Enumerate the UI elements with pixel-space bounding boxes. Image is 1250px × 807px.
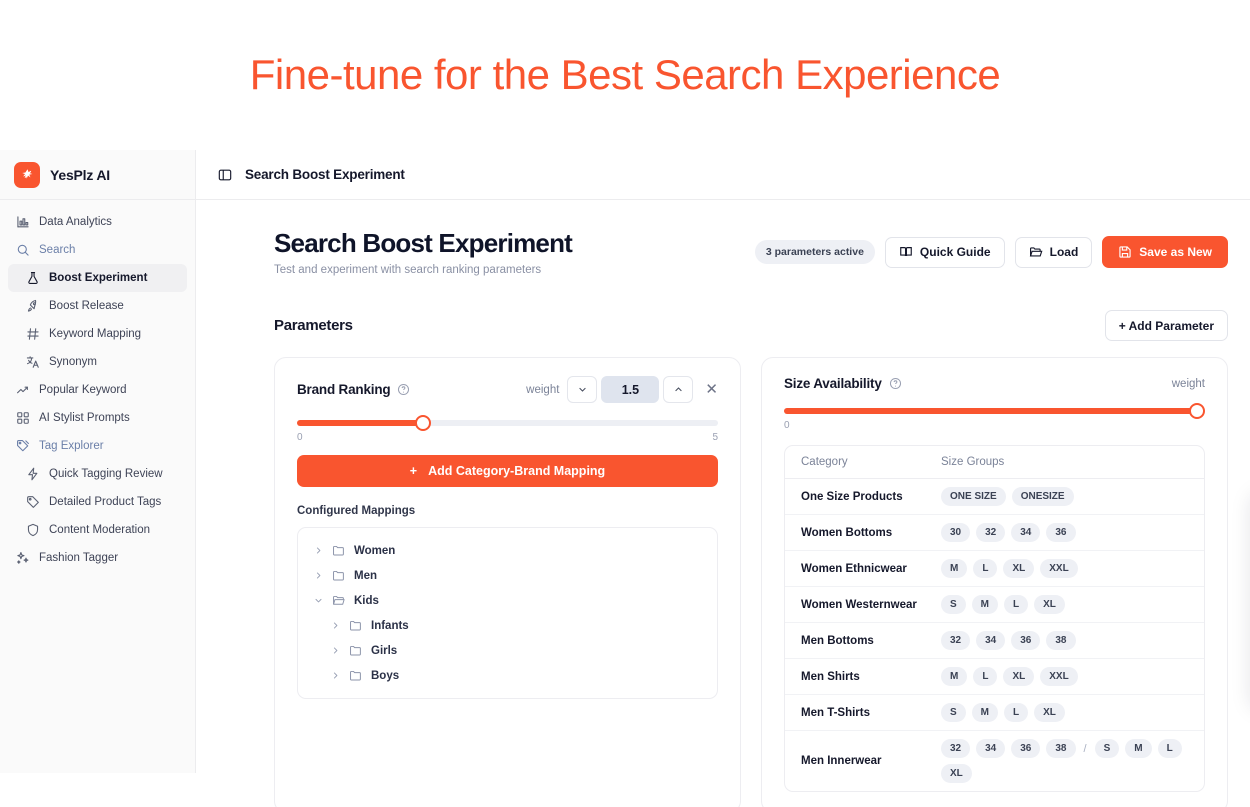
- page-content: Search Boost Experiment Test and experim…: [196, 200, 1250, 807]
- sidebar-item-content-moderation[interactable]: Content Moderation: [8, 516, 187, 544]
- page-subtitle: Test and experiment with search ranking …: [274, 264, 572, 276]
- size-availability-card: Size Availability weight: [761, 357, 1228, 807]
- weight-label: weight: [526, 384, 559, 396]
- page-title-block: Search Boost Experiment Test and experim…: [274, 228, 572, 276]
- hash-icon: [26, 327, 40, 341]
- tags-icon: [16, 439, 30, 453]
- book-icon: [899, 245, 913, 259]
- plus-icon: +: [410, 464, 417, 478]
- size-availability-slider-wrap: 0: [784, 408, 1205, 431]
- save-as-new-button[interactable]: Save as New: [1102, 236, 1228, 268]
- parameter-cards-grid: Brand Ranking weight: [274, 357, 1228, 807]
- size-chip: 34: [976, 631, 1005, 650]
- slider-knob[interactable]: [415, 415, 431, 431]
- size-chip: M: [972, 703, 998, 722]
- sidebar-item-label: Tag Explorer: [39, 440, 104, 452]
- chevron-right-icon[interactable]: [331, 621, 340, 630]
- sidebar-item-label: AI Stylist Prompts: [39, 412, 130, 424]
- brand-header: YesPlz AI: [0, 150, 195, 200]
- brand-ranking-slider-wrap: 0 5: [297, 420, 718, 443]
- active-parameters-badge: 3 parameters active: [755, 240, 875, 264]
- brand-name: YesPlz AI: [50, 167, 110, 183]
- tree-node-label: Girls: [371, 645, 397, 657]
- row-size-chips: 32343638: [941, 631, 1076, 650]
- sidebar-item-quick-tagging-review[interactable]: Quick Tagging Review: [8, 460, 187, 488]
- tree-node-label: Kids: [354, 595, 379, 607]
- row-category: Women Bottoms: [801, 527, 941, 539]
- size-availability-slider-scale: 0: [784, 420, 1205, 431]
- add-mapping-label: Add Category-Brand Mapping: [428, 464, 605, 478]
- size-chip: XXL: [1040, 667, 1077, 686]
- app-shell: YesPlz AI Data AnalyticsSearchBoost Expe…: [0, 150, 1250, 807]
- size-groups-table: Category Size Groups One Size ProductsON…: [784, 445, 1205, 792]
- tree-node-men[interactable]: Men: [306, 563, 709, 588]
- chevron-right-icon[interactable]: [314, 571, 323, 580]
- sidebar-item-label: Content Moderation: [49, 524, 150, 536]
- folder-icon: [332, 569, 345, 582]
- save-as-new-label: Save as New: [1139, 245, 1212, 259]
- sidebar-nav: Data AnalyticsSearchBoost ExperimentBoos…: [0, 200, 195, 572]
- category-tree: WomenMenKidsInfantsGirlsBoys: [297, 527, 718, 699]
- sidebar-item-label: Synonym: [49, 356, 97, 368]
- remove-parameter-icon[interactable]: ✕: [705, 382, 718, 397]
- sidebar-item-ai-stylist-prompts[interactable]: AI Stylist Prompts: [8, 404, 187, 432]
- sidebar-item-label: Search: [39, 244, 75, 256]
- tree-node-label: Boys: [371, 670, 399, 682]
- tree-node-label: Men: [354, 570, 377, 582]
- panel-left-icon[interactable]: [218, 168, 232, 182]
- topbar-title: Search Boost Experiment: [245, 167, 405, 182]
- sidebar-item-tag-explorer[interactable]: Tag Explorer: [8, 432, 187, 460]
- sidebar-item-detailed-product-tags[interactable]: Detailed Product Tags: [8, 488, 187, 516]
- weight-value[interactable]: 1.5: [601, 376, 659, 403]
- size-chip: M: [1125, 739, 1151, 758]
- slider-min-label: 0: [297, 432, 303, 443]
- size-chip: XL: [1034, 595, 1065, 614]
- sidebar-item-label: Keyword Mapping: [49, 328, 141, 340]
- brand-ranking-slider[interactable]: [297, 420, 718, 426]
- size-chip: 34: [976, 739, 1005, 758]
- flask-icon: [26, 271, 40, 285]
- brand-ranking-card: Brand Ranking weight: [274, 357, 741, 807]
- chevron-right-icon[interactable]: [331, 646, 340, 655]
- table-row: Men Innerwear32343638/SMLXL: [785, 731, 1204, 791]
- row-size-chips: MLXLXXL: [941, 667, 1078, 686]
- size-chip: 38: [1046, 739, 1075, 758]
- chevron-right-icon[interactable]: [331, 671, 340, 680]
- folder-icon: [349, 669, 362, 682]
- table-row: Men ShirtsMLXLXXL: [785, 659, 1204, 695]
- tag-icon: [26, 495, 40, 509]
- save-icon: [1118, 245, 1132, 259]
- size-chip: 30: [941, 523, 970, 542]
- sidebar-item-keyword-mapping[interactable]: Keyword Mapping: [8, 320, 187, 348]
- size-availability-slider[interactable]: [784, 408, 1205, 414]
- hero-banner: Fine-tune for the Best Search Experience: [0, 0, 1250, 150]
- folder-open-icon: [1029, 245, 1043, 259]
- size-chip: 36: [1011, 631, 1040, 650]
- size-chip: M: [972, 595, 998, 614]
- table-row: Women Bottoms30323436: [785, 515, 1204, 551]
- column-header-size-groups: Size Groups: [941, 456, 1004, 468]
- row-category: Women Westernwear: [801, 599, 941, 611]
- tree-node-boys[interactable]: Boys: [306, 663, 709, 688]
- tree-node-women[interactable]: Women: [306, 538, 709, 563]
- help-circle-icon[interactable]: [889, 377, 902, 390]
- table-row: Women WesternwearSMLXL: [785, 587, 1204, 623]
- sparkles-icon: [16, 551, 30, 565]
- slider-fill: [297, 420, 423, 426]
- folder-open-icon: [332, 594, 345, 607]
- row-size-chips: SMLXL: [941, 703, 1065, 722]
- size-chip: S: [941, 703, 966, 722]
- size-chip: 36: [1046, 523, 1075, 542]
- size-chip: ONESIZE: [1012, 487, 1074, 506]
- grid-icon: [16, 411, 30, 425]
- topbar: Search Boost Experiment: [196, 150, 1250, 200]
- size-chip: XL: [1034, 703, 1065, 722]
- hero-title: Fine-tune for the Best Search Experience: [250, 51, 1000, 99]
- size-chip: XL: [1003, 667, 1034, 686]
- slider-max-label: 5: [712, 432, 718, 443]
- table-row: One Size ProductsONE SIZEONESIZE: [785, 479, 1204, 515]
- slider-fill: [784, 408, 1197, 414]
- sidebar-item-boost-release[interactable]: Boost Release: [8, 292, 187, 320]
- brand-ranking-header: Brand Ranking weight: [297, 376, 718, 403]
- add-category-brand-mapping-button[interactable]: + Add Category-Brand Mapping: [297, 455, 718, 487]
- add-parameter-button[interactable]: + Add Parameter: [1105, 310, 1228, 341]
- configured-mappings-label: Configured Mappings: [297, 505, 718, 517]
- chevron-right-icon[interactable]: [314, 546, 323, 555]
- sidebar-item-label: Detailed Product Tags: [49, 496, 161, 508]
- sidebar-item-label: Popular Keyword: [39, 384, 127, 396]
- section-title: Parameters: [274, 317, 353, 334]
- load-label: Load: [1050, 245, 1079, 259]
- page-title: Search Boost Experiment: [274, 228, 572, 259]
- brand-ranking-title-block: Brand Ranking: [297, 382, 410, 397]
- row-size-chips: ONE SIZEONESIZE: [941, 487, 1074, 506]
- tree-node-girls[interactable]: Girls: [306, 638, 709, 663]
- weight-label: weight: [1172, 378, 1205, 390]
- column-header-category: Category: [801, 456, 941, 468]
- row-category: Men Bottoms: [801, 635, 941, 647]
- row-category: Men Shirts: [801, 671, 941, 683]
- row-size-chips: 32343638/SMLXL: [941, 739, 1188, 783]
- size-availability-header: Size Availability weight: [784, 376, 1205, 391]
- size-availability-title: Size Availability: [784, 376, 882, 391]
- size-chip: L: [973, 667, 997, 686]
- tree-node-label: Infants: [371, 620, 409, 632]
- page-header: Search Boost Experiment Test and experim…: [274, 228, 1228, 276]
- table-header-row: Category Size Groups: [785, 446, 1204, 479]
- size-chip: L: [973, 559, 997, 578]
- yesplz-logo-icon: [14, 162, 40, 188]
- folder-icon: [349, 644, 362, 657]
- slider-min-label: 0: [784, 420, 790, 431]
- sidebar-item-label: Fashion Tagger: [39, 552, 118, 564]
- search-icon: [16, 243, 30, 257]
- table-row: Men T-ShirtsSMLXL: [785, 695, 1204, 731]
- size-chip: 36: [1011, 739, 1040, 758]
- brand-ranking-title: Brand Ranking: [297, 382, 390, 397]
- row-category: Women Ethnicwear: [801, 563, 941, 575]
- tree-node-infants[interactable]: Infants: [306, 613, 709, 638]
- sidebar-item-data-analytics[interactable]: Data Analytics: [8, 208, 187, 236]
- sidebar-item-label: Boost Release: [49, 300, 124, 312]
- row-category: One Size Products: [801, 491, 941, 503]
- table-row: Women EthnicwearMLXLXXL: [785, 551, 1204, 587]
- trending-up-icon: [16, 383, 30, 397]
- brand-ranking-slider-scale: 0 5: [297, 432, 718, 443]
- size-chip: 38: [1046, 631, 1075, 650]
- size-chip: XL: [1003, 559, 1034, 578]
- sidebar-item-label: Quick Tagging Review: [49, 468, 163, 480]
- header-actions: 3 parameters active Quick Guide: [755, 228, 1228, 268]
- row-size-chips: MLXLXXL: [941, 559, 1078, 578]
- size-chip: XXL: [1040, 559, 1077, 578]
- chevron-down-icon[interactable]: [314, 596, 323, 605]
- row-category: Men Innerwear: [801, 755, 941, 767]
- slider-knob[interactable]: [1189, 403, 1205, 419]
- zap-icon: [26, 467, 40, 481]
- shield-icon: [26, 523, 40, 537]
- brand-ranking-weight-control: weight 1.5 ✕: [526, 376, 718, 403]
- weight-increment-button[interactable]: [663, 376, 693, 403]
- size-chip: L: [1004, 703, 1028, 722]
- size-chip: 32: [941, 739, 970, 758]
- help-circle-icon[interactable]: [397, 383, 410, 396]
- size-chip: XL: [941, 764, 972, 783]
- folder-icon: [349, 619, 362, 632]
- parameters-section-header: Parameters + Add Parameter: [274, 310, 1228, 341]
- size-separator: /: [1082, 743, 1089, 755]
- size-chip: M: [941, 667, 967, 686]
- sidebar-item-search[interactable]: Search: [8, 236, 187, 264]
- size-availability-title-block: Size Availability: [784, 376, 902, 391]
- quick-guide-label: Quick Guide: [920, 245, 991, 259]
- quick-guide-button[interactable]: Quick Guide: [885, 237, 1005, 268]
- sidebar-item-fashion-tagger[interactable]: Fashion Tagger: [8, 544, 187, 572]
- size-chip: L: [1158, 739, 1182, 758]
- weight-stepper: 1.5: [567, 376, 693, 403]
- load-button[interactable]: Load: [1015, 237, 1093, 268]
- size-chip: L: [1004, 595, 1028, 614]
- sidebar-item-synonym[interactable]: Synonym: [8, 348, 187, 376]
- size-availability-weight-control: weight: [1172, 378, 1205, 390]
- folder-icon: [332, 544, 345, 557]
- size-chip: M: [941, 559, 967, 578]
- size-chip: ONE SIZE: [941, 487, 1006, 506]
- translate-icon: [26, 355, 40, 369]
- sidebar-item-boost-experiment[interactable]: Boost Experiment: [8, 264, 187, 292]
- tree-node-label: Women: [354, 545, 395, 557]
- bar-chart-icon: [16, 215, 30, 229]
- sidebar-item-popular-keyword[interactable]: Popular Keyword: [8, 376, 187, 404]
- size-chip: 32: [941, 631, 970, 650]
- table-row: Men Bottoms32343638: [785, 623, 1204, 659]
- size-chip: 34: [1011, 523, 1040, 542]
- row-size-chips: SMLXL: [941, 595, 1065, 614]
- weight-decrement-button[interactable]: [567, 376, 597, 403]
- tree-node-kids[interactable]: Kids: [306, 588, 709, 613]
- main-area: Search Boost Experiment Search Boost Exp…: [196, 150, 1250, 807]
- row-category: Men T-Shirts: [801, 707, 941, 719]
- table-body: One Size ProductsONE SIZEONESIZEWomen Bo…: [785, 479, 1204, 791]
- rocket-icon: [26, 299, 40, 313]
- sidebar-item-label: Data Analytics: [39, 216, 112, 228]
- sidebar-item-label: Boost Experiment: [49, 272, 147, 284]
- size-chip: S: [1095, 739, 1120, 758]
- row-size-chips: 30323436: [941, 523, 1076, 542]
- sidebar: YesPlz AI Data AnalyticsSearchBoost Expe…: [0, 150, 196, 773]
- size-chip: S: [941, 595, 966, 614]
- size-chip: 32: [976, 523, 1005, 542]
